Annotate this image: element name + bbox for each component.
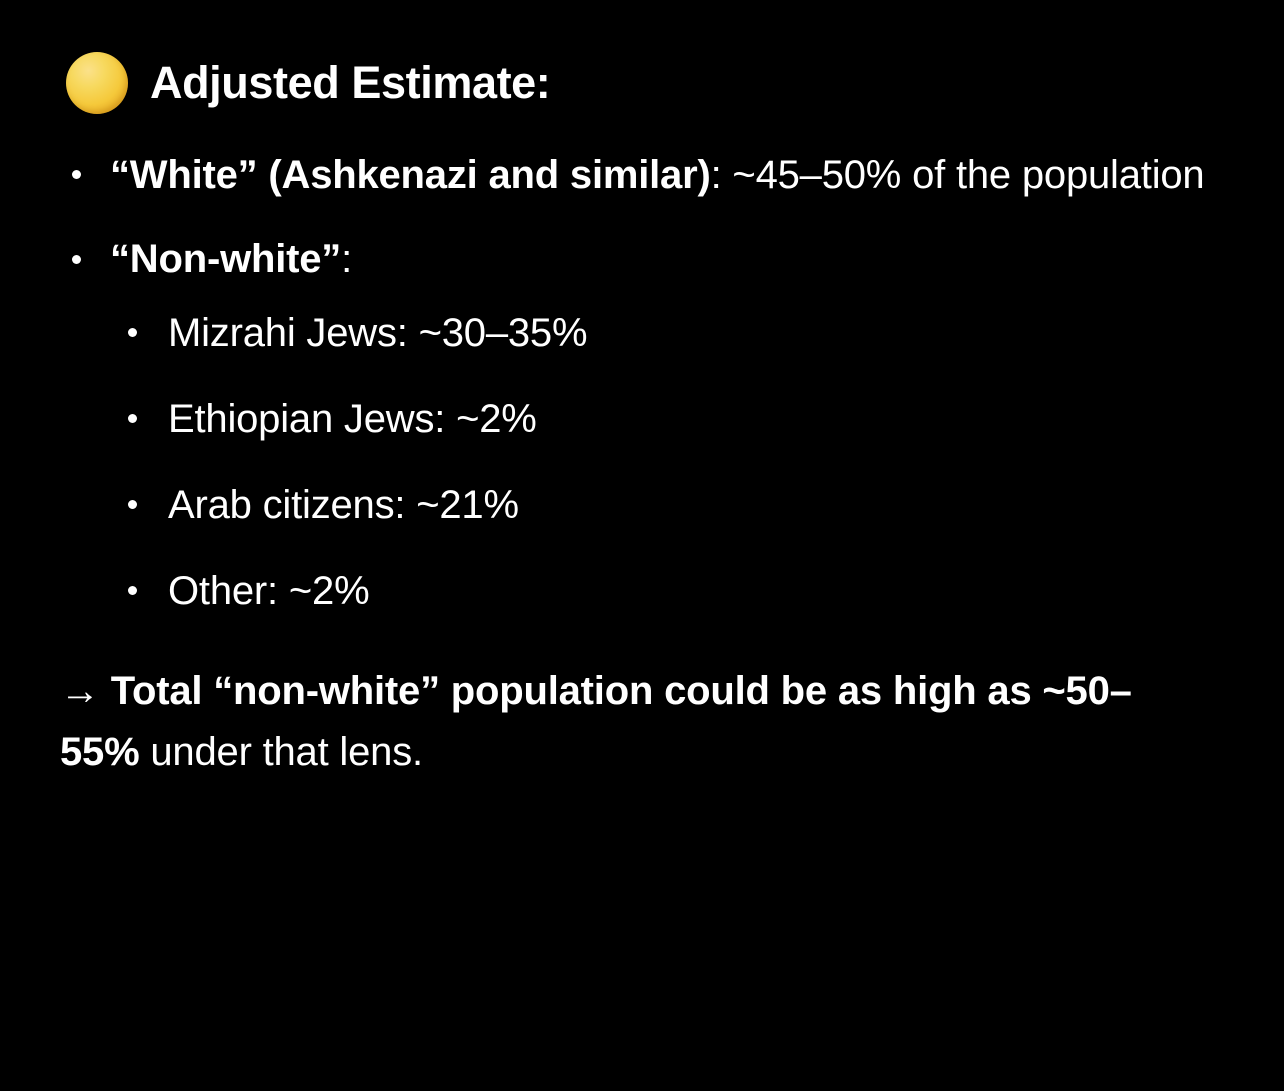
nested-list-wrapper: Mizrahi Jews: ~30–35% Ethiopian Jews: ~2… (118, 307, 1224, 617)
bullet-dot-icon (72, 255, 81, 264)
yellow-circle-icon (66, 52, 128, 114)
list-item: Ethiopian Jews: ~2% (118, 393, 1224, 445)
bullet-dot-icon (128, 328, 137, 337)
list-item: Arab citizens: ~21% (118, 479, 1224, 531)
bullet-dot-icon (128, 414, 137, 423)
list-item: “Non-white”: Mizrahi Jews: ~30–35% Ethio… (60, 232, 1224, 616)
sub-list-item-text: Other: ~2% (168, 569, 369, 613)
list-item-emphasis: “White” (Ashkenazi and similar) (110, 153, 711, 197)
bullet-dot-icon (72, 170, 81, 179)
message-content-panel: Adjusted Estimate: “White” (Ashkenazi an… (0, 0, 1284, 1091)
list-item: Other: ~2% (118, 565, 1224, 617)
bullet-dot-icon (128, 500, 137, 509)
bullet-list: “White” (Ashkenazi and similar): ~45–50%… (60, 148, 1224, 617)
sub-bullet-list: Mizrahi Jews: ~30–35% Ethiopian Jews: ~2… (118, 307, 1224, 617)
list-item-text: : (341, 237, 352, 281)
right-arrow-icon: → (60, 669, 100, 713)
sub-list-item-text: Mizrahi Jews: ~30–35% (168, 311, 587, 355)
conclusion-paragraph: → Total “non-white” population could be … (60, 661, 1190, 783)
sub-list-item-text: Ethiopian Jews: ~2% (168, 397, 537, 441)
bullet-dot-icon (128, 586, 137, 595)
sub-list-item-text: Arab citizens: ~21% (168, 483, 519, 527)
list-item: “White” (Ashkenazi and similar): ~45–50%… (60, 148, 1224, 202)
list-item: Mizrahi Jews: ~30–35% (118, 307, 1224, 359)
list-item-emphasis: “Non-white” (110, 237, 341, 281)
section-heading: Adjusted Estimate: (66, 52, 1224, 114)
section-heading-label: Adjusted Estimate: (150, 58, 550, 108)
list-item-text: : ~45–50% of the population (711, 153, 1205, 197)
conclusion-text: under that lens. (139, 730, 422, 774)
